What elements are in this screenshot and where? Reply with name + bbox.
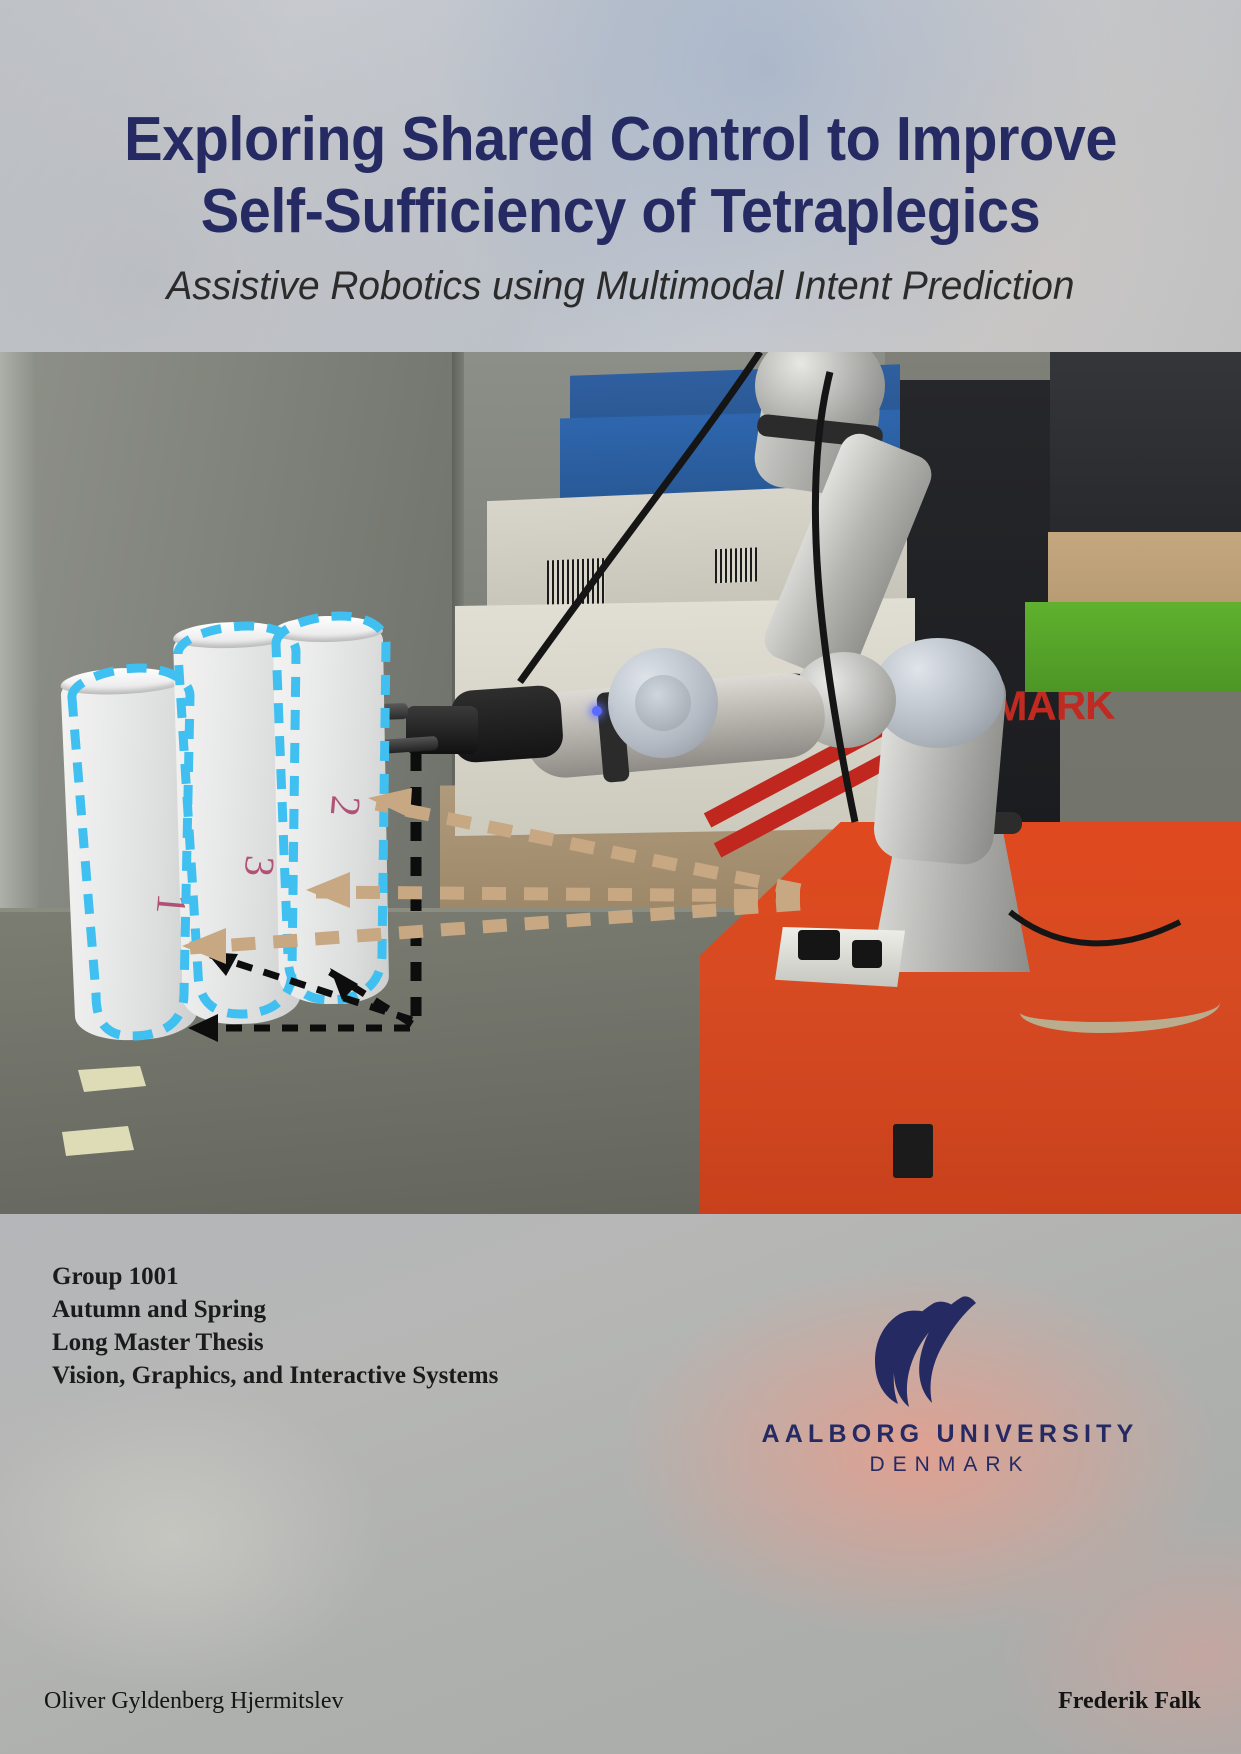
- university-name: AALBORG UNIVERSITY: [760, 1420, 1140, 1449]
- intent-arrow-to-cyl2: [376, 804, 800, 890]
- cover-photograph: MØBELTRANSPORT DANMARK BH GEFORCE RTX: [0, 352, 1241, 1214]
- page-subtitle: Assistive Robotics using Multimodal Inte…: [19, 262, 1223, 310]
- group-info: Group 1001 Autumn and Spring Long Master…: [52, 1260, 498, 1392]
- title-banner: Exploring Shared Control to Improve Self…: [0, 0, 1241, 352]
- thesis-cover-page: Exploring Shared Control to Improve Self…: [0, 0, 1241, 1754]
- cylinder-1-outline: [72, 668, 190, 1036]
- assoc-arrowheads: [188, 952, 358, 1042]
- page-title: Exploring Shared Control to Improve Self…: [43, 104, 1197, 248]
- university-country: DENMARK: [760, 1453, 1140, 1477]
- author-right: Frederik Falk: [1058, 1688, 1201, 1715]
- author-left: Oliver Gyldenberg Hjermitslev: [44, 1688, 343, 1715]
- intent-arrow-to-cyl3: [316, 892, 800, 896]
- annotation-overlay: [0, 352, 1241, 1214]
- intent-arrow-to-cyl1: [190, 904, 800, 948]
- aalborg-university-logo-icon: [836, 1283, 996, 1411]
